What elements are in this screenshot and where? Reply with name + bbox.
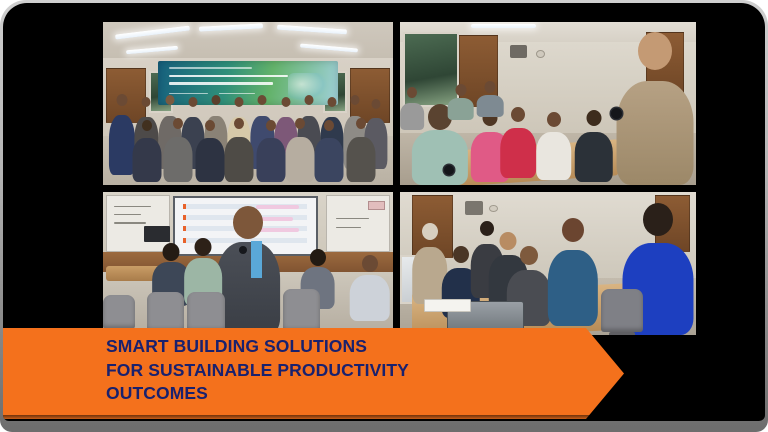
person	[501, 107, 537, 179]
person	[225, 118, 254, 182]
wall-clock	[536, 50, 545, 58]
photo-group-shot: Large group photo of training course par…	[103, 22, 393, 185]
chair	[283, 289, 321, 332]
person	[164, 118, 193, 182]
title-line-3: OUTCOMES	[106, 382, 606, 406]
chair	[187, 292, 225, 332]
photo-grid: Large group photo of training course par…	[103, 22, 696, 335]
whiteboard-right	[326, 195, 390, 252]
standing-speaker	[616, 32, 693, 185]
name-plate	[424, 299, 471, 312]
photo-discussion: A standing participant holding a microph…	[400, 22, 696, 185]
person	[575, 110, 613, 182]
wall-clock	[489, 205, 498, 212]
chair	[147, 292, 185, 332]
person	[196, 120, 225, 182]
person	[132, 120, 161, 182]
person-pointing	[548, 218, 598, 327]
photo-laptop-group: Several participants gathered around a l…	[400, 192, 696, 335]
presenter	[216, 206, 280, 335]
slide-canvas: Large group photo of training course par…	[3, 3, 765, 421]
chair	[601, 289, 642, 332]
wall-speaker	[510, 45, 528, 58]
person	[350, 255, 391, 321]
necktie	[251, 241, 263, 278]
person	[315, 120, 344, 182]
person	[109, 94, 135, 176]
title-line-2: FOR SUSTAINABLE PRODUCTIVITY	[106, 359, 606, 383]
person	[286, 118, 315, 182]
photo-presenter: A presenter with a microphone stands in …	[103, 192, 393, 335]
title-line-1: SMART BUILDING SOLUTIONS	[106, 335, 606, 359]
person	[536, 112, 572, 180]
person	[257, 120, 286, 182]
person	[400, 87, 424, 129]
person	[347, 118, 376, 182]
page-title: SMART BUILDING SOLUTIONS FOR SUSTAINABLE…	[106, 335, 606, 406]
person	[447, 84, 474, 120]
ceiling-light	[471, 24, 536, 28]
wall-speaker	[465, 201, 483, 215]
person	[477, 81, 504, 117]
device-frame: Large group photo of training course par…	[0, 0, 768, 432]
chair	[103, 295, 135, 329]
laptop	[144, 226, 170, 242]
